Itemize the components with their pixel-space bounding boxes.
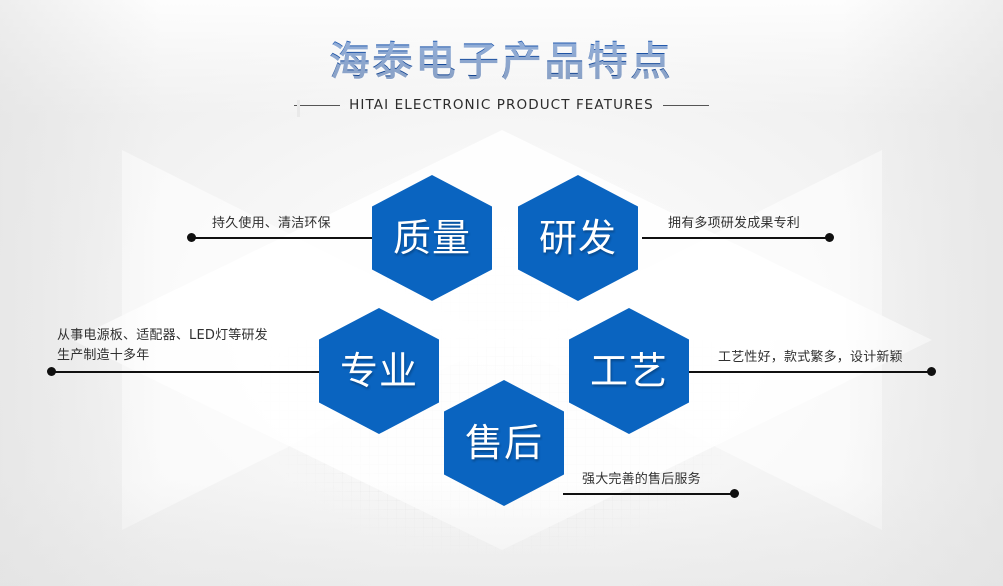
infographic-canvas: 海泰电子产品特点 HITAI ELECTRONIC PRODUCT FEATUR… xyxy=(0,0,1003,586)
hexagon-quality[interactable]: 质量 xyxy=(372,175,492,301)
hexagon-professional-label: 专业 xyxy=(340,352,418,390)
hexagon-craft[interactable]: 工艺 xyxy=(569,308,689,434)
decorative-tick xyxy=(297,100,300,117)
page-subtitle: HITAI ELECTRONIC PRODUCT FEATURES xyxy=(0,97,1003,113)
hexagon-rnd-label: 研发 xyxy=(539,219,617,257)
hexagon-rnd[interactable]: 研发 xyxy=(518,175,638,301)
hexagon-quality-label: 质量 xyxy=(393,219,471,257)
page-subtitle-text: HITAI ELECTRONIC PRODUCT FEATURES xyxy=(349,97,654,113)
hexagon-aftersale-label: 售后 xyxy=(465,424,543,462)
hexagon-craft-label: 工艺 xyxy=(590,352,668,390)
hexagon-professional[interactable]: 专业 xyxy=(319,308,439,434)
hexagon-aftersale[interactable]: 售后 xyxy=(444,380,564,506)
subtitle-dash-left xyxy=(294,105,340,106)
page-title: 海泰电子产品特点 xyxy=(0,36,1003,88)
subtitle-dash-right xyxy=(663,105,709,106)
page-header: 海泰电子产品特点 HITAI ELECTRONIC PRODUCT FEATUR… xyxy=(0,36,1003,113)
